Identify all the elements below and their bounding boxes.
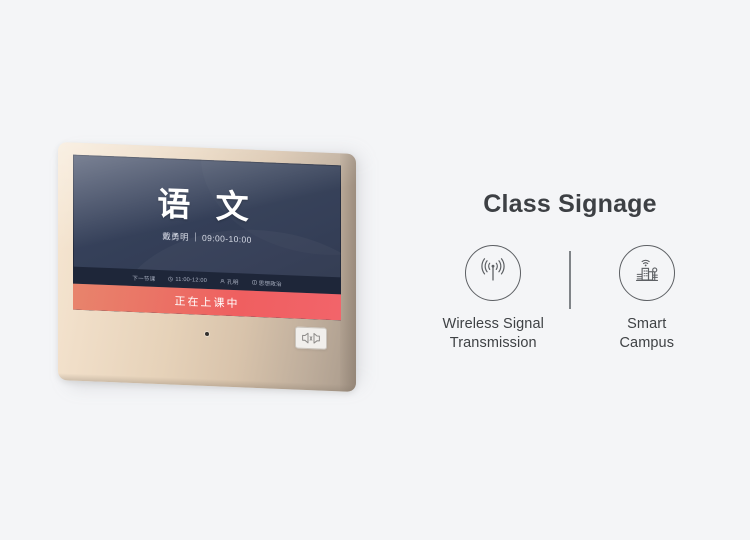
feature-icon-circle: [465, 245, 521, 301]
wireless-signal-icon: [475, 253, 511, 294]
feature-divider: [569, 251, 571, 309]
device-screen: 语 文 戴勇明 09:00-10:00 下一节课: [73, 155, 341, 321]
screen-main-content: 语 文 戴勇明 09:00-10:00: [73, 155, 341, 278]
next-class-subject: 思想政治: [259, 279, 282, 288]
feature-label-line-2: Transmission: [443, 334, 544, 353]
person-icon: [220, 279, 225, 284]
feature-smart-campus: Smart Campus: [579, 245, 715, 352]
current-class-meta: 戴勇明 09:00-10:00: [162, 230, 251, 246]
device-illustration: 语 文 戴勇明 09:00-10:00 下一节课: [58, 142, 366, 387]
clock-icon: [168, 276, 173, 281]
smart-campus-icon: [629, 253, 665, 294]
next-class-time-chunk: 11:00-12:00: [168, 276, 207, 284]
sensor-dot-icon: [205, 332, 209, 336]
feature-label-line-1: Smart: [619, 315, 674, 334]
feature-wireless-signal: Wireless Signal Transmission: [425, 245, 561, 352]
page-title: Class Signage: [420, 190, 720, 219]
device-right-edge: [340, 153, 356, 392]
feature-label-line-2: Campus: [619, 334, 674, 353]
meta-separator: [195, 233, 196, 242]
next-class-time: 11:00-12:00: [175, 276, 207, 283]
next-class-label: 下一节课: [132, 273, 155, 282]
feature-icon-circle: [619, 245, 675, 301]
next-class-label-chunk: 下一节课: [132, 273, 155, 282]
feature-label-smart-campus: Smart Campus: [619, 315, 674, 352]
feature-list: Wireless Signal Transmission: [420, 245, 720, 352]
next-class-teacher-chunk: 孔明: [220, 277, 239, 286]
device-frame: 语 文 戴勇明 09:00-10:00 下一节课: [58, 142, 356, 392]
page-root: 语 文 戴勇明 09:00-10:00 下一节课: [0, 0, 750, 540]
feature-label-line-1: Wireless Signal: [443, 315, 544, 334]
feature-panel: Class Signage: [420, 190, 720, 352]
speaker-icon: [295, 327, 327, 350]
next-class-subject-chunk: 思想政治: [252, 278, 282, 287]
book-icon: [252, 280, 257, 285]
current-teacher-name: 戴勇明: [162, 230, 189, 243]
current-time-range: 09:00-10:00: [202, 232, 252, 244]
next-class-teacher: 孔明: [227, 277, 239, 285]
current-subject-title: 语 文: [157, 186, 256, 223]
feature-label-wireless-signal: Wireless Signal Transmission: [443, 315, 544, 352]
